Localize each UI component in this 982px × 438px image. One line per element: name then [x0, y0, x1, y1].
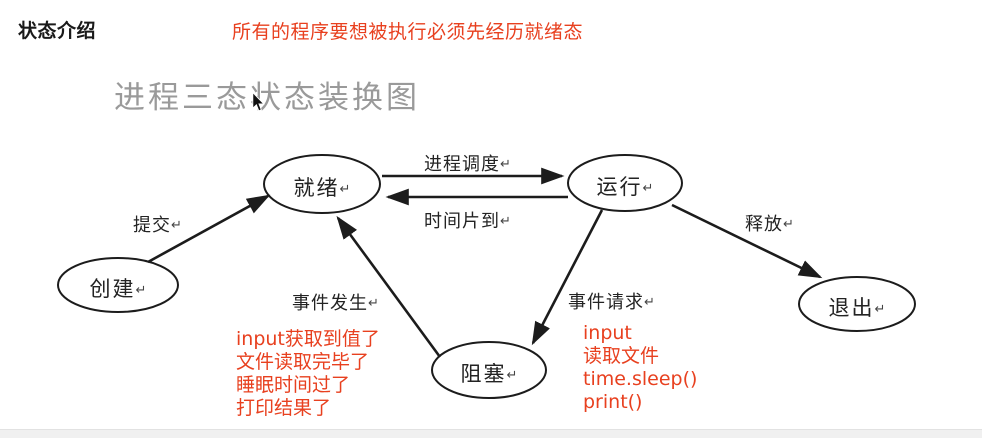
- annotation-line: 睡眠时间过了: [236, 374, 380, 397]
- edge-label-text: 时间片到: [424, 211, 500, 232]
- pilcrow-mark: ↵: [507, 368, 518, 383]
- pilcrow-mark: ↵: [875, 302, 886, 317]
- annotation-line: input获取到值了: [236, 328, 380, 351]
- edge-label-running-to-exit: 释放↵: [745, 210, 794, 236]
- annotation-line: 打印结果了: [236, 397, 380, 420]
- edge-label-running-to-blocked: 事件请求↵: [568, 288, 655, 314]
- edge-label-text: 事件请求: [568, 292, 644, 313]
- edge-label-text: 进程调度: [424, 154, 500, 175]
- pilcrow-mark: ↵: [171, 218, 182, 233]
- node-label-running-text: 运行: [597, 175, 643, 199]
- pilcrow-mark: ↵: [340, 182, 351, 197]
- node-label-ready: 就绪↵: [264, 172, 380, 202]
- edge-label-blocked-to-ready: 事件发生↵: [292, 289, 379, 315]
- edge-label-create-to-ready: 提交↵: [133, 211, 182, 237]
- pilcrow-mark: ↵: [368, 296, 379, 311]
- node-label-exit: 退出↵: [799, 292, 915, 322]
- annotation-line: input: [583, 322, 697, 345]
- pilcrow-mark: ↵: [783, 217, 794, 232]
- screenshot-root: 状态介绍 所有的程序要想被执行必须先经历就绪态 进程三态状态装换图: [0, 0, 982, 438]
- edge-label-running-to-ready: 时间片到↵: [424, 207, 511, 233]
- mouse-cursor-icon: [252, 92, 266, 113]
- pilcrow-mark: ↵: [500, 214, 511, 229]
- edge-label-ready-to-running: 进程调度↵: [424, 150, 511, 176]
- annotation-line: print(): [583, 391, 697, 414]
- node-label-running: 运行↵: [568, 171, 682, 201]
- annotation-block-left: input获取到值了 文件读取完毕了 睡眠时间过了 打印结果了: [236, 328, 380, 420]
- node-label-create-text: 创建: [90, 277, 136, 301]
- annotation-block-right: input 读取文件 time.sleep() print(): [583, 322, 697, 414]
- pilcrow-mark: ↵: [136, 283, 147, 298]
- annotation-line: 文件读取完毕了: [236, 351, 380, 374]
- bottom-band: [0, 429, 982, 438]
- node-label-blocked-text: 阻塞: [461, 362, 507, 386]
- node-label-exit-text: 退出: [829, 296, 875, 320]
- node-label-create: 创建↵: [58, 273, 178, 303]
- edge-label-text: 提交: [133, 215, 171, 236]
- annotation-line: 读取文件: [583, 345, 697, 368]
- pilcrow-mark: ↵: [644, 295, 655, 310]
- node-label-blocked: 阻塞↵: [432, 358, 546, 388]
- edge-label-text: 事件发生: [292, 293, 368, 314]
- pilcrow-mark: ↵: [500, 157, 511, 172]
- pilcrow-mark: ↵: [643, 181, 654, 196]
- annotation-line: time.sleep(): [583, 368, 697, 391]
- node-label-ready-text: 就绪: [294, 176, 340, 200]
- edge-label-text: 释放: [745, 214, 783, 235]
